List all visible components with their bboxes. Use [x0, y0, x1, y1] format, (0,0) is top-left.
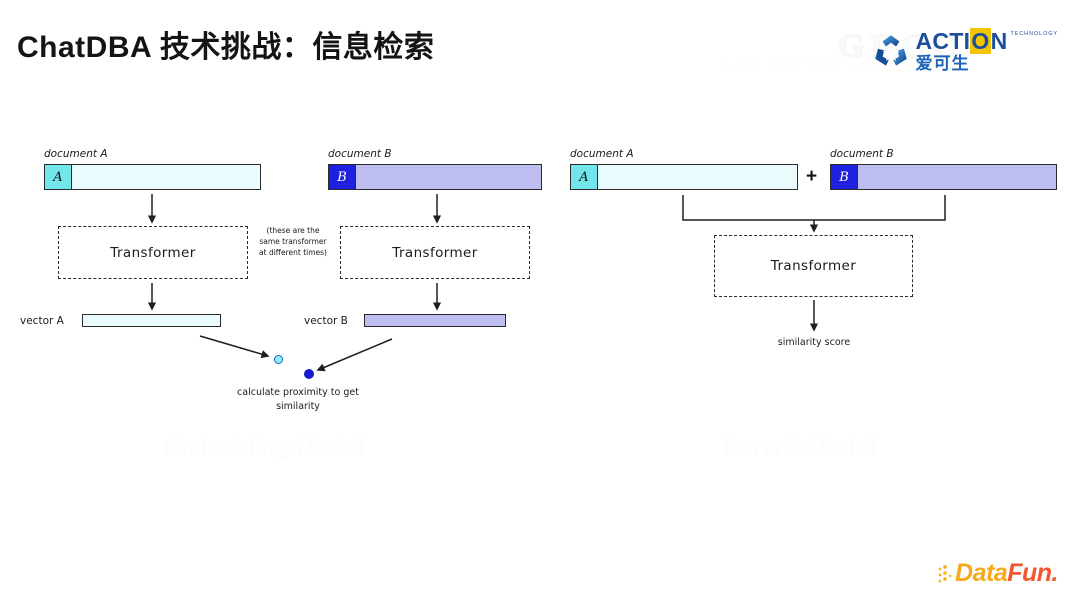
right-document-a-body [598, 165, 797, 189]
right-document-a-tag: A [571, 165, 598, 189]
watermark-embedding-model: Embedding Model [165, 434, 363, 461]
vector-a-label: vector A [20, 315, 64, 327]
left-document-a-tag: A [45, 165, 72, 189]
right-transformer-label: Transformer [771, 258, 856, 274]
right-document-b-body [858, 165, 1056, 189]
watermark-rerank-model: Rerank Model [724, 434, 875, 461]
vector-b-bar [364, 314, 506, 327]
brand-name: ACTION [916, 30, 1008, 53]
left-transformer-a-label: Transformer [110, 245, 195, 261]
similarity-score-caption: similarity score [754, 336, 874, 350]
datafun-word-fun: Fun. [1007, 559, 1058, 587]
right-document-b-tag: B [831, 165, 858, 189]
brand-tagline: TECHNOLOGY [1010, 32, 1058, 38]
slide-canvas: ChatDBA 技术挑战：信息检索 GDCC GLOBAL DISTRIBUTE… [0, 0, 1080, 608]
plus-operator: + [806, 166, 817, 188]
brand-name-row: ACTION TECHNOLOGY [916, 30, 1059, 53]
arrow-vector-a-to-point [200, 336, 268, 356]
brand-logo: ACTION TECHNOLOGY 爱可生 [873, 30, 1059, 72]
left-transformer-a-box: Transformer [58, 226, 248, 279]
left-document-b-label: document B [328, 148, 392, 160]
datafun-word-data: Data [955, 559, 1007, 587]
transformer-note: (these are the same transformer at diffe… [258, 226, 328, 259]
brand-name-pre: ACTI [916, 28, 971, 54]
vector-a-point [274, 355, 283, 364]
right-transformer-box: Transformer [714, 235, 913, 297]
page-title: ChatDBA 技术挑战：信息检索 [17, 22, 434, 66]
left-document-b-bar: B [328, 164, 542, 190]
left-document-a-label: document A [44, 148, 108, 160]
diagram-connectors [0, 0, 1080, 608]
recycle-star-icon [873, 34, 909, 68]
brand-text: ACTION TECHNOLOGY 爱可生 [916, 30, 1059, 72]
left-transformer-b-box: Transformer [340, 226, 530, 279]
brand-chinese-name: 爱可生 [916, 55, 1059, 72]
left-transformer-b-label: Transformer [392, 245, 477, 261]
brand-name-highlight: O [970, 28, 990, 54]
left-document-a-bar: A [44, 164, 261, 190]
datafun-dots-icon [937, 563, 953, 585]
vector-a-bar [82, 314, 221, 327]
left-document-b-tag: B [329, 165, 356, 189]
right-document-b-label: document B [830, 148, 894, 160]
arrow-vector-b-to-point [318, 339, 392, 370]
left-document-b-body [356, 165, 541, 189]
proximity-caption: calculate proximity to get similarity [232, 386, 364, 414]
bracket-join-documents [683, 195, 945, 220]
datafun-logo: DataFun. [937, 561, 1058, 586]
right-document-b-bar: B [830, 164, 1057, 190]
vector-b-label: vector B [304, 315, 348, 327]
datafun-wordmark: DataFun. [955, 561, 1058, 586]
vector-b-point [304, 369, 314, 379]
brand-name-post: N [991, 28, 1008, 54]
right-document-a-bar: A [570, 164, 798, 190]
right-document-a-label: document A [570, 148, 634, 160]
left-document-a-body [72, 165, 260, 189]
